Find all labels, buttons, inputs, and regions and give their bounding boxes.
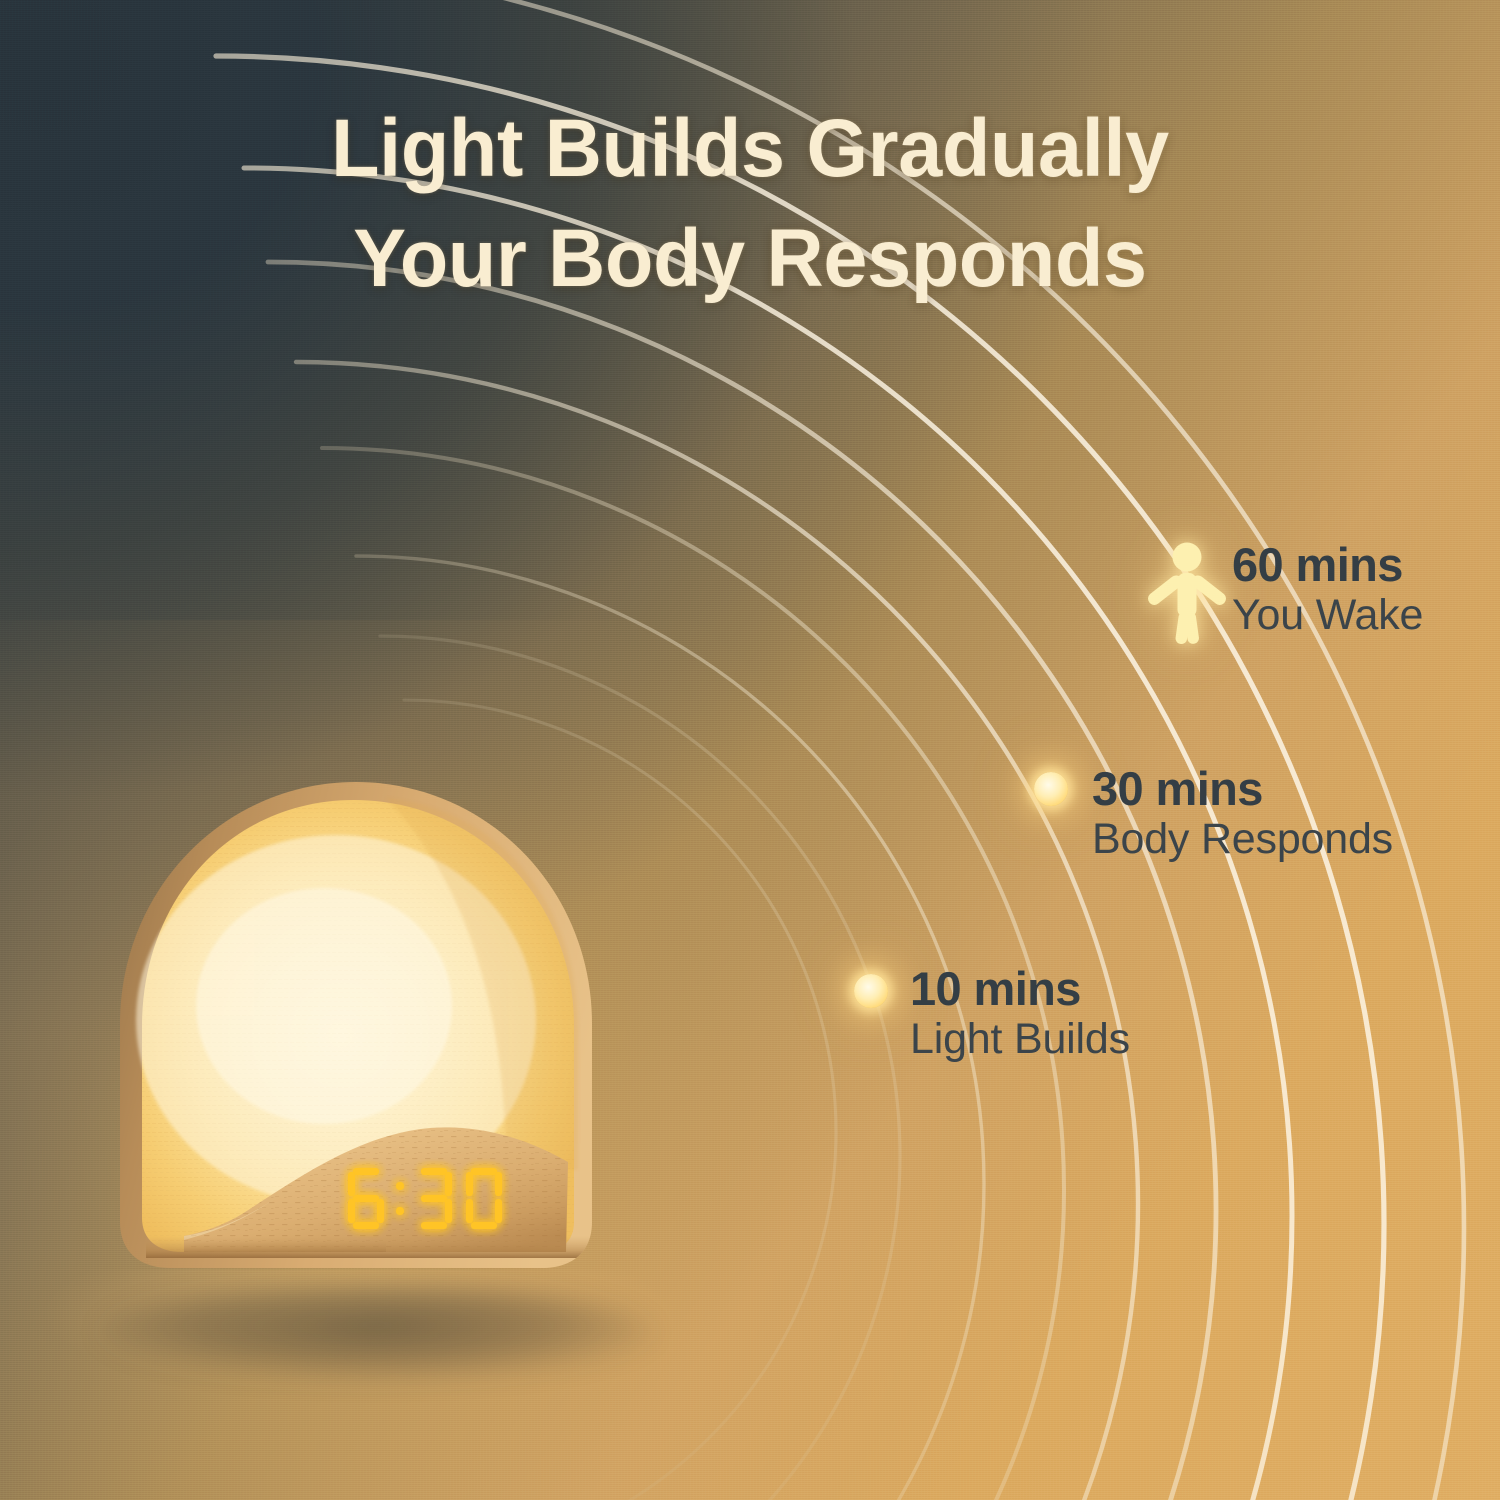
headline-line-2: Your Body Responds [26, 204, 1474, 314]
timeline-body-time: 30 mins [1092, 764, 1393, 814]
glow-dot-icon-light [854, 974, 888, 1008]
timeline-light-description: Light Builds [910, 1014, 1130, 1065]
headline-line-1: Light Builds Gradually [26, 94, 1474, 204]
timeline-wake-description: You Wake [1232, 590, 1423, 641]
sunrise-alarm-clock-lamp: 6:30 [86, 770, 626, 1310]
promo-canvas: Light Builds Gradually Your Body Respond… [0, 0, 1500, 1500]
page-headline: Light Builds Gradually Your Body Respond… [0, 94, 1500, 314]
timeline-item-body: 30 mins Body Responds [1092, 764, 1393, 865]
timeline-wake-time: 60 mins [1232, 540, 1423, 590]
glow-dot-icon-body [1034, 772, 1068, 806]
timeline-light-time: 10 mins [910, 964, 1130, 1014]
person-raised-arms-icon [1146, 540, 1228, 644]
timeline-item-light: 10 mins Light Builds [910, 964, 1130, 1065]
timeline-body-description: Body Responds [1092, 814, 1393, 865]
timeline-item-wake: 60 mins You Wake [1232, 540, 1423, 641]
